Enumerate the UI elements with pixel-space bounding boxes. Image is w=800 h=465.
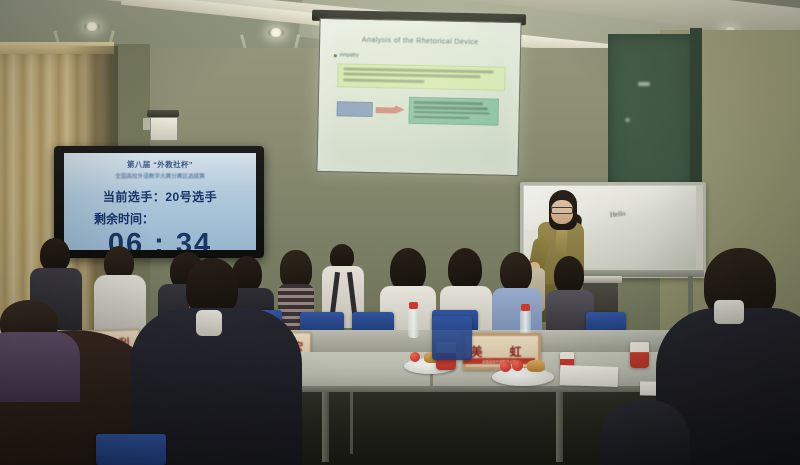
panel-glare (625, 118, 630, 122)
audience-head (500, 252, 532, 292)
ceiling-light-icon (84, 22, 100, 31)
panel-glare (638, 82, 650, 86)
arrow-right-icon (376, 105, 406, 115)
tomato (500, 361, 511, 372)
slide-flow-diagram (336, 95, 511, 126)
audience-torso (492, 288, 542, 334)
chair[interactable] (300, 312, 344, 332)
chair[interactable] (586, 312, 626, 332)
chair[interactable] (432, 316, 472, 360)
audience-head (554, 256, 584, 294)
tomato (512, 360, 523, 371)
remaining-time-label: 剩余时间： (64, 210, 256, 227)
classroom-photo: Analysis of the Rhetorical Device empath… (0, 0, 800, 465)
pastry (527, 360, 545, 372)
chair[interactable] (352, 312, 394, 332)
flow-source-box (337, 102, 373, 118)
presentation-slide: Analysis of the Rhetorical Device empath… (317, 19, 520, 175)
projection-screen[interactable]: Analysis of the Rhetorical Device empath… (316, 18, 521, 176)
slide-bullet-row: empathy (334, 52, 512, 62)
bottle-cap (521, 304, 530, 311)
water-bottle[interactable] (408, 308, 419, 338)
slide-definition-box (337, 63, 505, 91)
lectern-paper (578, 276, 622, 283)
monitor-glare (64, 153, 256, 193)
foreground-person-shoulder (600, 400, 690, 465)
glasses-icon (551, 207, 573, 214)
flow-effects-box (408, 97, 499, 126)
whiteboard-leg (688, 276, 693, 316)
slide-bullet-label: empathy (340, 52, 359, 58)
shirt-collar (714, 300, 744, 324)
chair[interactable] (96, 434, 166, 465)
bottle-cap (409, 302, 418, 309)
slide-title: Analysis of the Rhetorical Device (328, 34, 512, 47)
audience-head (448, 248, 482, 290)
countdown-timer-value: 06 : 34 (64, 228, 256, 250)
ceiling-light-icon (268, 28, 284, 37)
table-leg (322, 392, 329, 462)
name-card-banner: 全国高校外语教学大赛 (463, 358, 535, 364)
audience-torso (0, 332, 80, 402)
shirt-collar (196, 310, 222, 336)
audience-head (40, 238, 70, 272)
table-leg (556, 392, 563, 462)
paper-sheet (560, 365, 619, 387)
table-brace (350, 392, 353, 454)
tomato (410, 352, 420, 362)
bullet-dot-icon (334, 54, 337, 57)
paper-cup[interactable] (630, 342, 649, 368)
wall-speaker-icon (150, 117, 178, 141)
wall-speaker-top (147, 110, 179, 117)
audience-torso (94, 275, 146, 333)
